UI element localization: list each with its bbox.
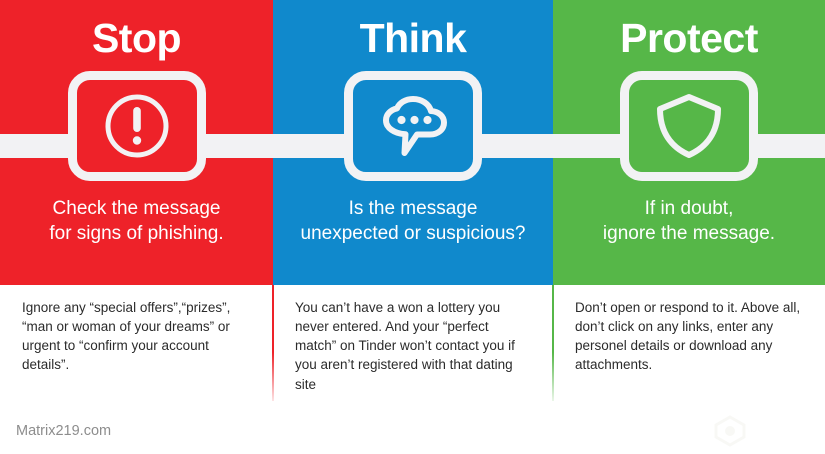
- body-text-stop: Ignore any “special offers”,“prizes”, “m…: [22, 298, 249, 375]
- icon-box-protect: [620, 71, 758, 181]
- watermark-icon: [700, 411, 760, 451]
- panel-caption-think: Is the message unexpected or suspicious?: [289, 197, 538, 246]
- panel-title-think: Think: [360, 18, 467, 59]
- body-column-protect: Don’t open or respond to it. Above all, …: [553, 285, 825, 403]
- shield-icon: [654, 89, 724, 163]
- phishing-awareness-infographic: Stop Check the message for signs of phis…: [0, 0, 825, 454]
- body-text-protect: Don’t open or respond to it. Above all, …: [575, 298, 801, 375]
- body-text-think: You can’t have a won a lottery you never…: [295, 298, 529, 394]
- body-column-think: You can’t have a won a lottery you never…: [273, 285, 553, 403]
- footer-credit: Matrix219.com: [16, 423, 111, 439]
- icon-box-think: [344, 71, 482, 181]
- panel-caption-stop: Check the message for signs of phishing.: [37, 197, 235, 246]
- divider-red: [272, 285, 274, 401]
- divider-green: [552, 285, 554, 401]
- footer: Matrix219.com: [0, 403, 825, 454]
- body-row: Ignore any “special offers”,“prizes”, “m…: [0, 285, 825, 403]
- body-column-stop: Ignore any “special offers”,“prizes”, “m…: [0, 285, 273, 403]
- panel-caption-protect: If in doubt, ignore the message.: [591, 197, 787, 246]
- panel-title-protect: Protect: [620, 18, 758, 59]
- icon-box-stop: [68, 71, 206, 181]
- panel-title-stop: Stop: [92, 18, 181, 59]
- exclamation-circle-icon: [101, 90, 173, 162]
- panel-row: Stop Check the message for signs of phis…: [0, 0, 825, 285]
- speech-bubble-icon: [375, 91, 451, 161]
